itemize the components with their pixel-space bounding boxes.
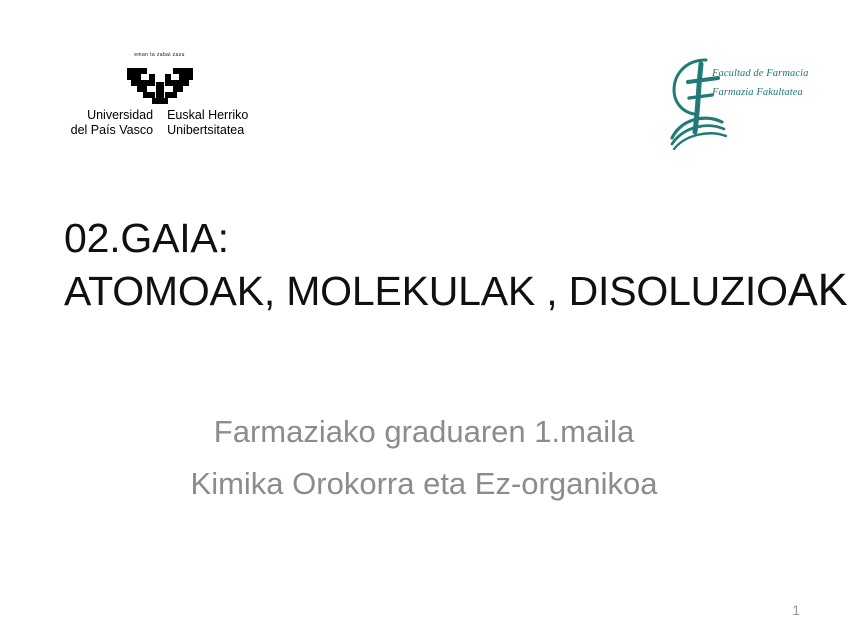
slide-title-line2-tail: AK <box>788 264 848 315</box>
pharmacy-wordmark-spanish: Facultad de Farmacia <box>712 64 808 83</box>
ehu-wordmark-eu-line1: Euskal Herriko <box>167 108 248 123</box>
ehu-wordmark-eu-line2: Unibertsitatea <box>167 123 248 138</box>
pharmacy-wordmark-basque: Farmazia Fakultatea <box>712 83 808 102</box>
slide-subtitle: Farmaziako graduaren 1.maila Kimika Orok… <box>0 406 848 510</box>
slide-number: 1 <box>792 602 800 618</box>
ehu-wordmark: Universidad del País Vasco Euskal Herrik… <box>52 108 267 138</box>
ehu-wordmark-basque: Euskal Herriko Unibertsitatea <box>167 108 248 138</box>
pharmacy-faculty-logo: Facultad de Farmacia Farmazia Fakultatea <box>668 52 808 150</box>
ehu-wordmark-spanish: Universidad del País Vasco <box>71 108 153 138</box>
upv-ehu-logo: eman ta zabal zazu Universidad del País … <box>52 52 267 147</box>
slide-subtitle-line2: Kimika Orokorra eta Ez-organikoa <box>0 458 848 510</box>
ehu-motto-text: eman ta zabal zazu <box>52 52 267 58</box>
slide-title-line1: 02.GAIA: <box>64 212 784 264</box>
ehu-emblem-icon <box>125 62 195 108</box>
pharmacy-faculty-wordmark: Facultad de Farmacia Farmazia Fakultatea <box>712 64 808 102</box>
slide-subtitle-line1: Farmaziako graduaren 1.maila <box>0 406 848 458</box>
slide-title: 02.GAIA: ATOMOAK, MOLEKULAK , DISOLUZIOA… <box>64 212 784 317</box>
slide-title-line2-main: ATOMOAK, MOLEKULAK , DISOLUZIO <box>64 268 788 314</box>
slide-title-line2: ATOMOAK, MOLEKULAK , DISOLUZIOAK <box>64 264 784 317</box>
presentation-slide: eman ta zabal zazu Universidad del País … <box>0 0 848 636</box>
ehu-wordmark-es-line2: del País Vasco <box>71 123 153 138</box>
ehu-wordmark-es-line1: Universidad <box>71 108 153 123</box>
